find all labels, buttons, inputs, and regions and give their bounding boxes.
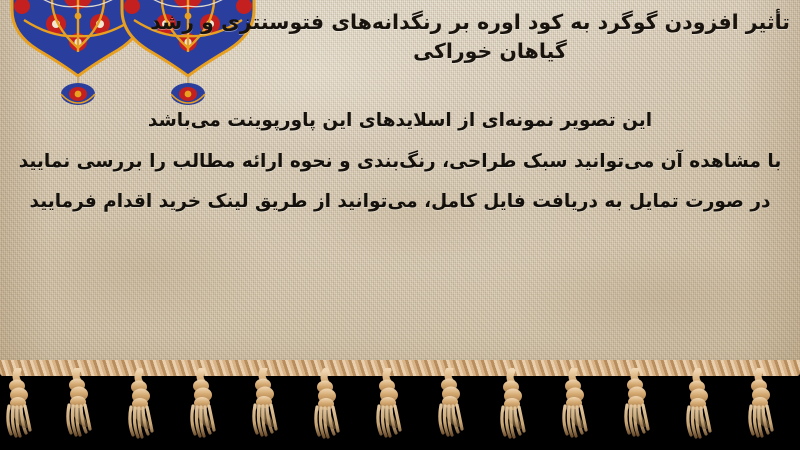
slide-title-line-1: تأثیر افزودن گوگرد به کود اوره بر رنگدان… <box>190 8 790 37</box>
tassel-row <box>0 368 800 450</box>
presentation-slide: تأثیر افزودن گوگرد به کود اوره بر رنگدان… <box>0 0 800 450</box>
tassel-fringe-border <box>0 360 800 450</box>
body-line-3: در صورت تمایل به دریافت فایل کامل، می‌تو… <box>8 193 792 212</box>
slide-title-line-2: گیاهان خوراکی <box>190 37 790 66</box>
slide-body-text: این تصویر نمونه‌ای از اسلایدهای این پاور… <box>8 112 792 212</box>
body-line-1: این تصویر نمونه‌ای از اسلایدهای این پاور… <box>8 112 792 131</box>
slide-title: تأثیر افزودن گوگرد به کود اوره بر رنگدان… <box>190 8 790 66</box>
body-line-2: با مشاهده آن می‌توانید سبک طراحی، رنگ‌بن… <box>8 153 792 172</box>
